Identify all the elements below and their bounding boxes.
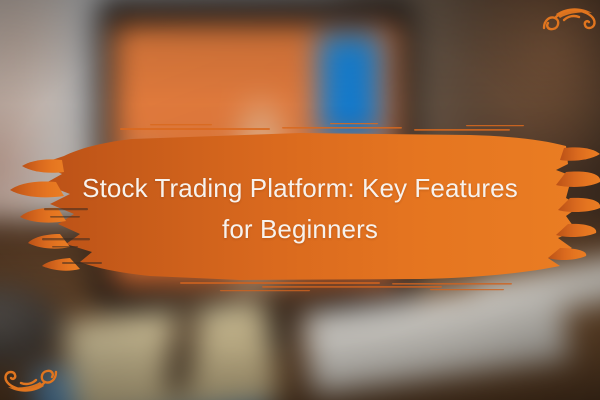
page-title: Stock Trading Platform: Key Features for… bbox=[0, 168, 600, 250]
flourish-swirl-icon-bottom-left bbox=[0, 354, 68, 400]
page-title-text: Stock Trading Platform: Key Features for… bbox=[82, 173, 518, 244]
featured-image-card: Stock Trading Platform: Key Features for… bbox=[0, 0, 600, 400]
brush-top-texture bbox=[120, 123, 524, 131]
flourish-swirl-icon-top-right bbox=[534, 0, 600, 44]
brush-bottom-texture bbox=[180, 282, 512, 291]
